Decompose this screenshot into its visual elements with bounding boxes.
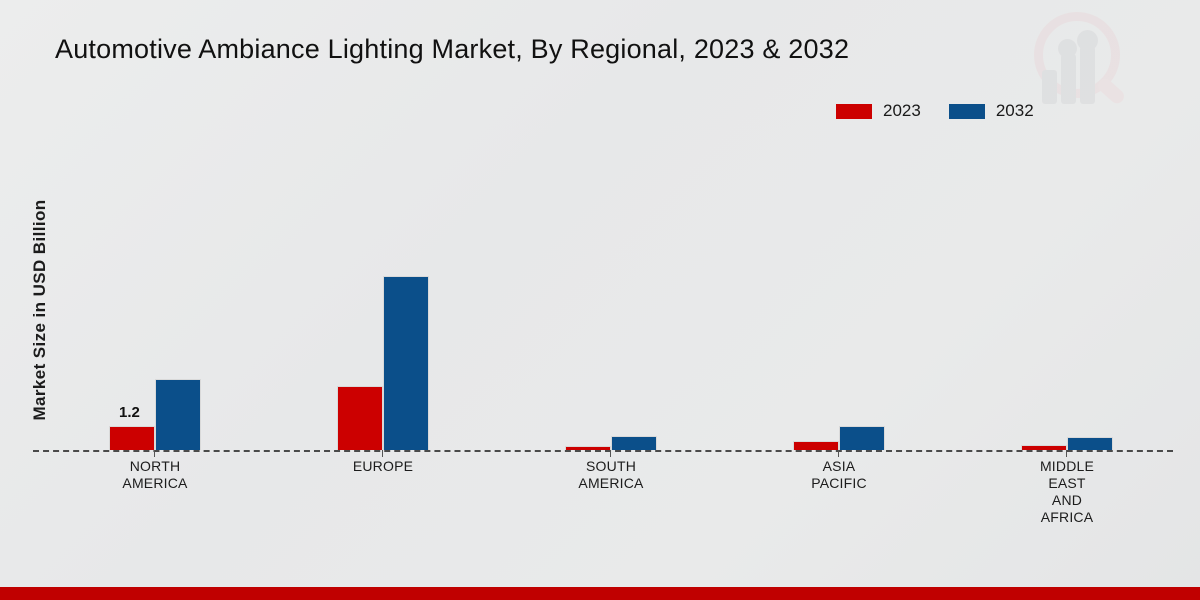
bar-group: MIDDLEEASTANDAFRICA (1021, 190, 1113, 450)
chart-canvas: Automotive Ambiance Lighting Market, By … (0, 0, 1200, 600)
bar-group: ASIAPACIFIC (793, 190, 885, 450)
bar-group: EUROPE (337, 190, 429, 450)
bar-2032[interactable] (1067, 437, 1113, 450)
bar-pair (565, 190, 657, 450)
bar-pair (337, 190, 429, 450)
x-axis-baseline (33, 450, 1173, 452)
bar-pair (793, 190, 885, 450)
x-axis-label: MIDDLEEASTANDAFRICA (987, 458, 1147, 526)
x-axis-label: ASIAPACIFIC (759, 458, 919, 492)
bar-pair (1021, 190, 1113, 450)
x-axis-label: NORTHAMERICA (75, 458, 235, 492)
x-axis-tick (382, 450, 383, 457)
x-axis-label: SOUTHAMERICA (531, 458, 691, 492)
bar-2032[interactable] (839, 426, 885, 450)
x-axis-tick (838, 450, 839, 457)
bar-2023[interactable] (793, 441, 839, 450)
bar-2032[interactable] (155, 379, 201, 450)
plot-area: NORTHAMERICAEUROPESOUTHAMERICAASIAPACIFI… (0, 0, 1200, 600)
bar-2023[interactable] (109, 426, 155, 450)
bar-2023[interactable] (565, 446, 611, 450)
bar-value-label: 1.2 (119, 404, 140, 421)
bar-2023[interactable] (337, 386, 383, 450)
footer-accent-bar (0, 587, 1200, 600)
x-axis-tick (610, 450, 611, 457)
x-axis-label: EUROPE (303, 458, 463, 475)
bar-2032[interactable] (383, 276, 429, 450)
bar-2023[interactable] (1021, 445, 1067, 450)
bar-2032[interactable] (611, 436, 657, 450)
x-axis-tick (1066, 450, 1067, 457)
x-axis-tick (154, 450, 155, 457)
bar-group: SOUTHAMERICA (565, 190, 657, 450)
